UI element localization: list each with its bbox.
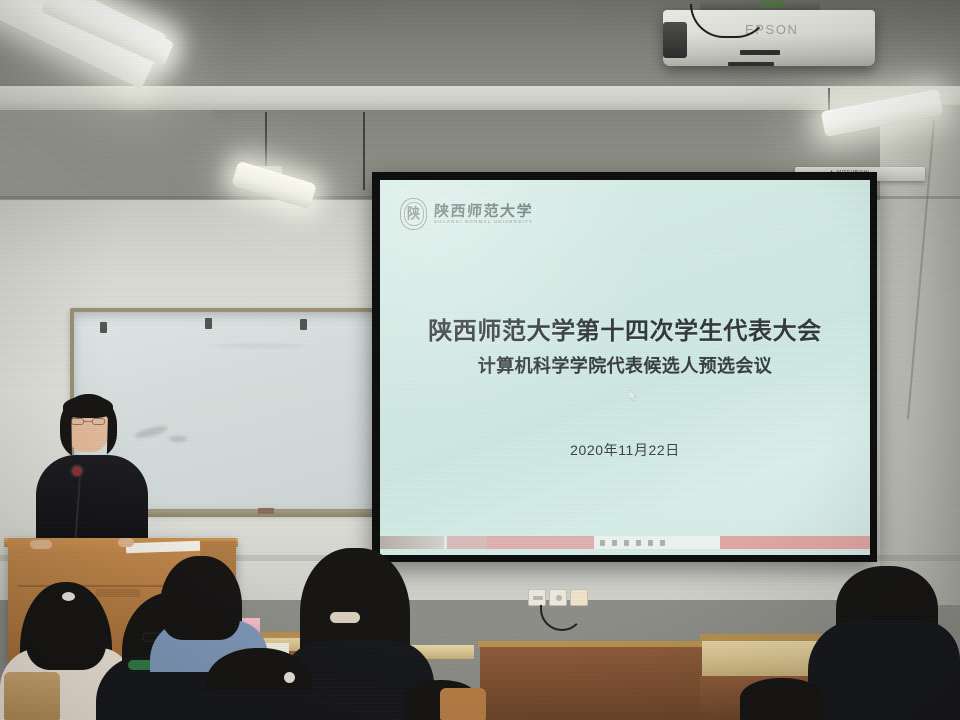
microphone-head: [72, 466, 82, 476]
outlet-cable: [540, 605, 584, 631]
toolbar-icon-6[interactable]: [660, 540, 665, 546]
desk-center: [480, 645, 702, 720]
app-bar-left-menu[interactable]: [380, 536, 444, 549]
university-logo: 陕 陕西师范大学 SHAANXI NORMAL UNIVERSITY: [400, 198, 533, 230]
audience-member-3-hair-top: [162, 558, 240, 640]
hair-clip: [62, 592, 75, 601]
slide-title: 陕西师范大学第十四次学生代表大会: [380, 311, 870, 346]
toolbar-icon-4[interactable]: [636, 540, 641, 546]
screen-glare-secondary: [625, 368, 870, 556]
desk-right-edge: [700, 634, 824, 641]
speaker-glasses-icon: [71, 418, 105, 425]
mouse-cursor-icon: [629, 390, 637, 402]
presentation-app-bar[interactable]: [380, 536, 870, 549]
speaker-fringe: [63, 396, 113, 418]
university-logo-text: 陕西师范大学 SHAANXI NORMAL UNIVERSITY: [434, 204, 533, 224]
projector-lens: [663, 22, 687, 58]
wall-switch-plate[interactable]: [528, 589, 546, 606]
whiteboard-smudge-2: [169, 436, 187, 442]
desk-center-edge: [478, 641, 704, 647]
whiteboard-magnet-2: [205, 318, 212, 329]
app-bar-toolbar[interactable]: [594, 536, 720, 549]
audience-member-7-hair: [740, 678, 824, 720]
university-name-cn: 陕西师范大学: [434, 204, 534, 219]
whiteboard-magnet-3: [300, 319, 307, 330]
app-bar-main[interactable]: [487, 536, 594, 549]
seal-character: 陕: [407, 207, 420, 222]
ceiling-beam: [0, 86, 960, 112]
slide-subtitle: 计算机科学学院代表候选人预选会议: [380, 352, 870, 378]
chair-center: [440, 688, 486, 720]
whiteboard-tray-clip: [258, 508, 274, 514]
projected-slide[interactable]: 陕 陕西师范大学 SHAANXI NORMAL UNIVERSITY 陕西师范大…: [380, 180, 870, 555]
desk-right-surface: [702, 638, 820, 678]
audience-member-5-hairpin: [284, 672, 295, 683]
toolbar-icon-2[interactable]: [612, 540, 617, 546]
audience-member-4-collar: [330, 612, 360, 623]
wall-outlet-plate-2[interactable]: [570, 589, 588, 606]
audience-member-5-body: [186, 690, 334, 720]
audience-member-6-body: [808, 620, 960, 720]
toolbar-icon-1[interactable]: [600, 540, 605, 546]
app-bar-tab[interactable]: [447, 536, 487, 549]
pendant-rod-left: [265, 112, 267, 170]
whiteboard-magnet-1: [100, 322, 107, 333]
toolbar-icon-5[interactable]: [648, 540, 653, 546]
pendant-rod-right: [363, 112, 365, 190]
university-name-en: SHAANXI NORMAL UNIVERSITY: [434, 220, 533, 224]
classroom-photo-scene: EPSON MITSUBISHI 陕 陕西师范大学: [0, 0, 960, 720]
glasses-lens-right: [92, 418, 105, 425]
glasses-bridge: [84, 421, 92, 422]
speaker-torso: [36, 455, 148, 551]
speaker-hand-left: [30, 540, 52, 549]
projector-vent-1: [740, 50, 780, 55]
switch-rocker[interactable]: [533, 596, 543, 600]
projection-screen-frame: 陕 陕西师范大学 SHAANXI NORMAL UNIVERSITY 陕西师范大…: [372, 172, 877, 562]
toolbar-icon-3[interactable]: [624, 540, 629, 546]
chair-left: [4, 672, 60, 720]
projector-vent-2: [728, 62, 774, 66]
outlet-socket[interactable]: [556, 595, 562, 601]
light-rod-upper-right: [828, 88, 830, 110]
slide-date: 2020年11月22日: [380, 440, 870, 460]
university-seal-icon: 陕: [400, 198, 427, 230]
whiteboard-smudge-3: [214, 344, 304, 348]
app-bar-right[interactable]: [720, 536, 870, 549]
podium-emblem: [96, 589, 140, 597]
speaker-hand-right: [118, 538, 134, 547]
whiteboard-smudge-1: [134, 424, 169, 440]
glasses-lens-left: [71, 418, 84, 425]
wall-outlet-plate-1[interactable]: [549, 589, 567, 606]
